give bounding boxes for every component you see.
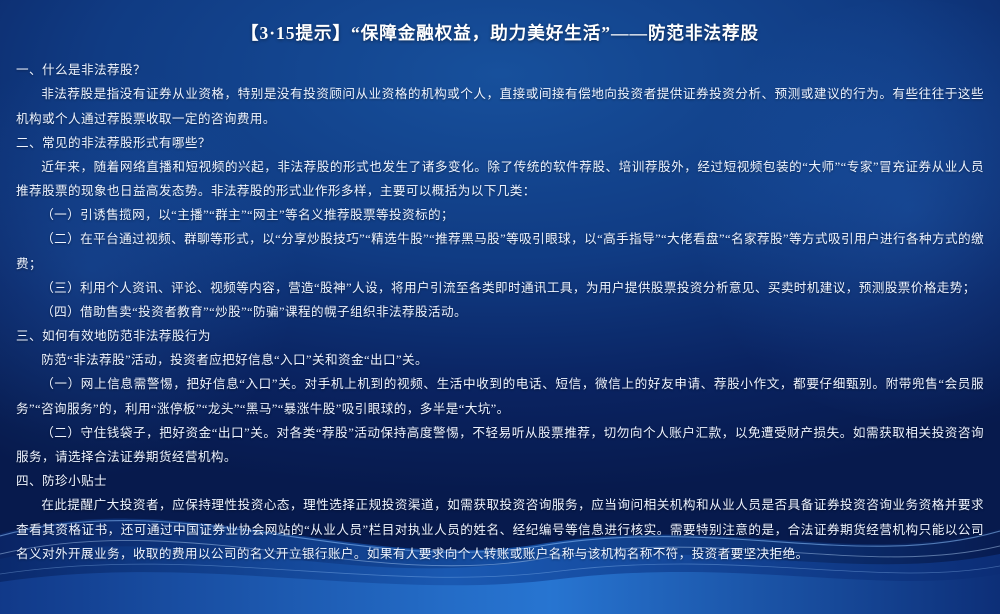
document-content: 【3·15提示】“保障金融权益，助力美好生活”——防范非法荐股 一、什么是非法荐… [0, 0, 1000, 566]
page-title: 【3·15提示】“保障金融权益，助力美好生活”——防范非法荐股 [16, 20, 984, 46]
document-body: 一、什么是非法荐股？ 非法荐股是指没有证券从业资格，特别是没有投资顾问从业资格的… [16, 58, 984, 566]
paragraph-9: （二）守住钱袋子，把好资金“出口”关。对各类“荐股”活动保持高度警惕，不轻易听从… [16, 421, 984, 469]
paragraph-5: （三）利用个人资讯、评论、视频等内容，营造“股神”人设，将用户引流至各类即时通讯… [16, 276, 984, 300]
paragraph-3: （一）引诱售揽网，以“主播”“群主”“网主”等名义推荐股票等投资标的； [16, 203, 984, 227]
paragraph-8: （一）网上信息需警惕，把好信息“入口”关。对手机上机到的视频、生活中收到的电话、… [16, 372, 984, 420]
section-heading-1: 一、什么是非法荐股？ [16, 58, 984, 82]
paragraph-7: 防范“非法荐股”活动，投资者应把好信息“入口”关和资金“出口”关。 [16, 348, 984, 372]
section-heading-3: 三、如何有效地防范非法荐股行为 [16, 324, 984, 348]
paragraph-2: 近年来，随着网络直播和短视频的兴起，非法荐股的形式也发生了诸多变化。除了传统的软… [16, 155, 984, 203]
section-heading-2: 二、常见的非法荐股形式有哪些？ [16, 131, 984, 155]
paragraph-4: （二）在平台通过视频、群聊等形式，以“分享炒股技巧”“精选牛股”“推荐黑马股”等… [16, 227, 984, 275]
section-heading-4: 四、防珍小贴士 [16, 469, 984, 493]
paragraph-1: 非法荐股是指没有证券从业资格，特别是没有投资顾问从业资格的机构或个人，直接或间接… [16, 82, 984, 130]
paragraph-10: 在此提醒广大投资者，应保持理性投资心态，理性选择正规投资渠道，如需获取投资咨询服… [16, 493, 984, 566]
paragraph-6: （四）借助售卖“投资者教育”“炒股”“防骗”课程的幌子组织非法荐股活动。 [16, 300, 984, 324]
document-page: 【3·15提示】“保障金融权益，助力美好生活”——防范非法荐股 一、什么是非法荐… [0, 0, 1000, 614]
